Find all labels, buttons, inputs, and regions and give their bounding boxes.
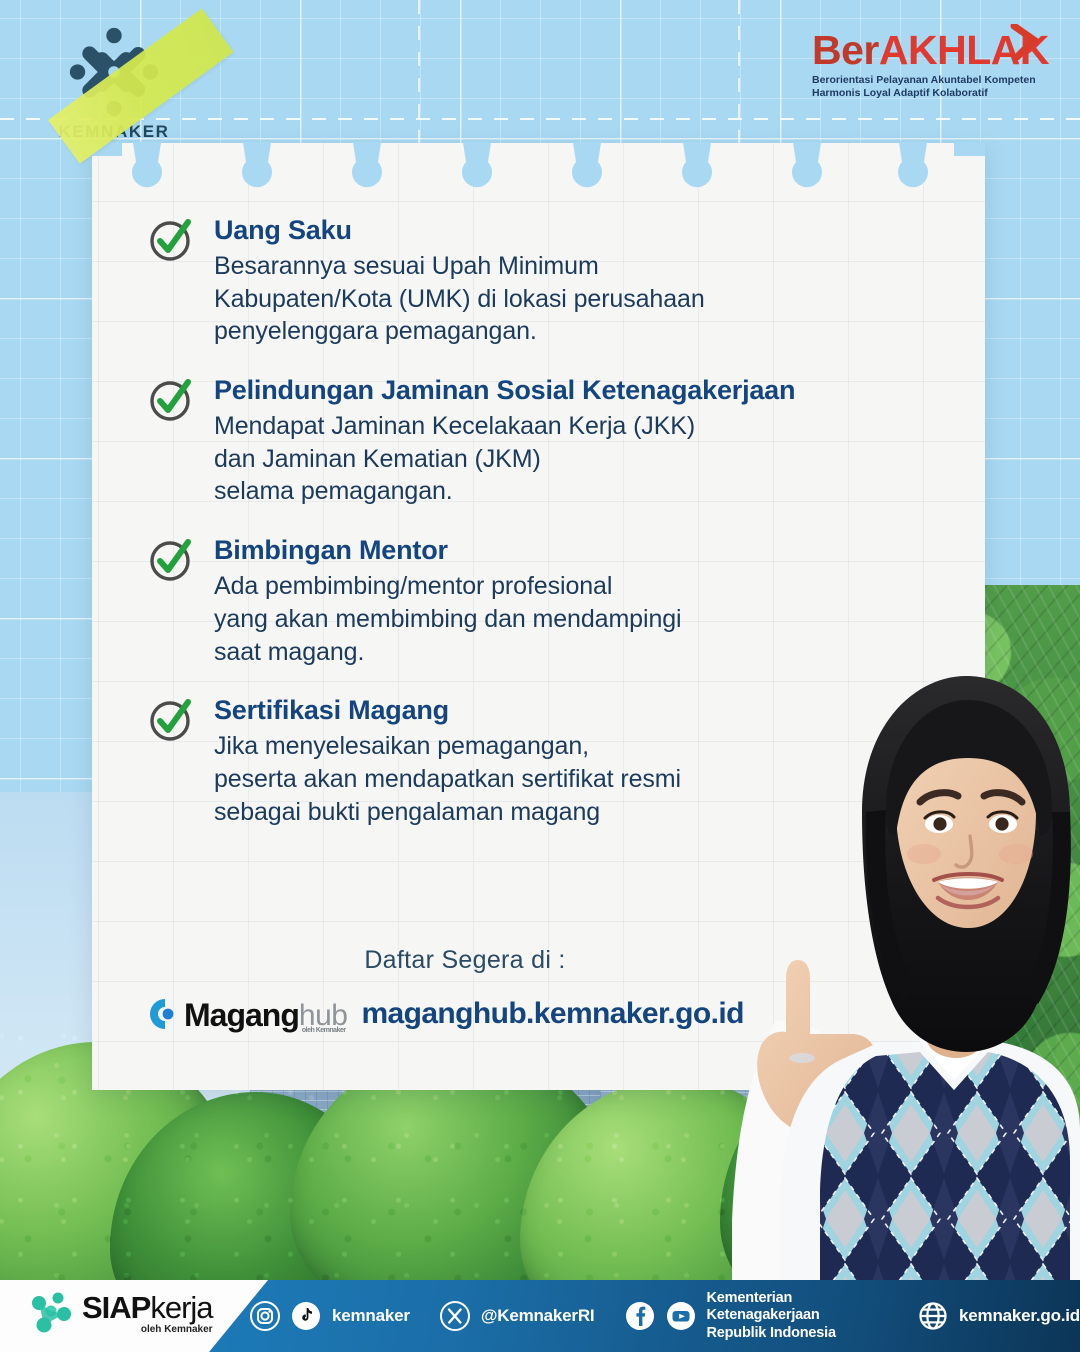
check-circle-icon <box>148 377 194 423</box>
siapkerja-logo: SIAPkerja oleh Kemnaker <box>28 1290 213 1336</box>
social-handle-x: @KemnakerRI <box>481 1306 595 1326</box>
maganghub-subtitle: oleh Kemnaker <box>302 1027 346 1034</box>
siap-light-text: kerja <box>150 1290 212 1325</box>
social-handle-website: kemnaker.go.id <box>959 1306 1080 1326</box>
benefit-title: Pelindungan Jaminan Sosial Ketenagakerja… <box>214 375 938 407</box>
cta-block: Daftar Segera di : Magang hub oleh Kemna… <box>148 946 768 1031</box>
berakhlak-title: BerAKHLAK <box>812 30 1042 71</box>
check-circle-icon <box>148 697 194 743</box>
benefit-description: Mendapat Jaminan Kecelakaan Kerja (JKK) … <box>214 410 938 508</box>
benefit-title: Uang Saku <box>214 215 938 247</box>
social-handle-instagram-tiktok: kemnaker <box>332 1306 410 1326</box>
berakhlak-tagline-1: Berorientasi Pelayanan Akuntabel Kompete… <box>812 74 1042 87</box>
tiktok-icon[interactable] <box>291 1301 321 1331</box>
siap-bold-text: SIAP <box>82 1290 150 1325</box>
torn-punch-holes <box>92 142 985 204</box>
benefit-title: Bimbingan Mentor <box>214 535 938 567</box>
list-item: Pelindungan Jaminan Sosial Ketenagakerja… <box>148 375 938 508</box>
maganghub-mark-icon <box>148 997 182 1031</box>
check-circle-icon <box>148 537 194 583</box>
cta-label: Daftar Segera di : <box>162 946 768 975</box>
footer-social-links: kemnaker @KemnakerRI Kementerian Ketenag… <box>250 1280 1080 1352</box>
berakhlak-logo: BerAKHLAK Berorientasi Pelayanan Akuntab… <box>812 30 1042 101</box>
footer-bar: SIAPkerja oleh Kemnaker kemnaker @Kemnak <box>0 1280 1080 1352</box>
x-twitter-icon[interactable] <box>440 1301 470 1331</box>
siapkerja-wordmark: SIAPkerja <box>82 1292 213 1323</box>
chevron-arrow-icon <box>1010 24 1040 60</box>
siapkerja-subtitle: oleh Kemnaker <box>82 1325 213 1335</box>
berakhlak-prefix: Ber <box>812 27 879 73</box>
poster-root: KEMNAKER BerAKHLAK Berorientasi Pelayana… <box>0 0 1080 1352</box>
instagram-icon[interactable] <box>250 1301 280 1331</box>
youtube-icon[interactable] <box>666 1301 696 1331</box>
maganghub-brand-main: Magang <box>184 999 299 1031</box>
berakhlak-tagline-2: Harmonis Loyal Adaptif Kolaboratif <box>812 87 1042 100</box>
social-handle-ministry: Kementerian Ketenagakerjaan Republik Ind… <box>707 1290 888 1341</box>
maganghub-brand-secondary: hub oleh Kemnaker <box>299 1001 348 1031</box>
check-circle-icon <box>148 217 194 263</box>
facebook-icon[interactable] <box>625 1301 655 1331</box>
maganghub-logo[interactable]: Magang hub oleh Kemnaker <box>148 997 347 1031</box>
siapkerja-text: SIAPkerja oleh Kemnaker <box>82 1292 213 1335</box>
list-item: Uang Saku Besarannya sesuai Upah Minimum… <box>148 215 938 348</box>
cta-row: Magang hub oleh Kemnaker maganghub.kemna… <box>148 997 768 1031</box>
globe-icon[interactable] <box>918 1301 948 1331</box>
benefit-description: Besarannya sesuai Upah Minimum Kabupaten… <box>214 250 938 348</box>
woman-pointing-photo <box>680 660 1080 1280</box>
list-item: Bimbingan Mentor Ada pembimbing/mentor p… <box>148 535 938 668</box>
siapkerja-mark-icon <box>28 1290 74 1336</box>
benefit-description: Ada pembimbing/mentor profesional yang a… <box>214 570 938 668</box>
